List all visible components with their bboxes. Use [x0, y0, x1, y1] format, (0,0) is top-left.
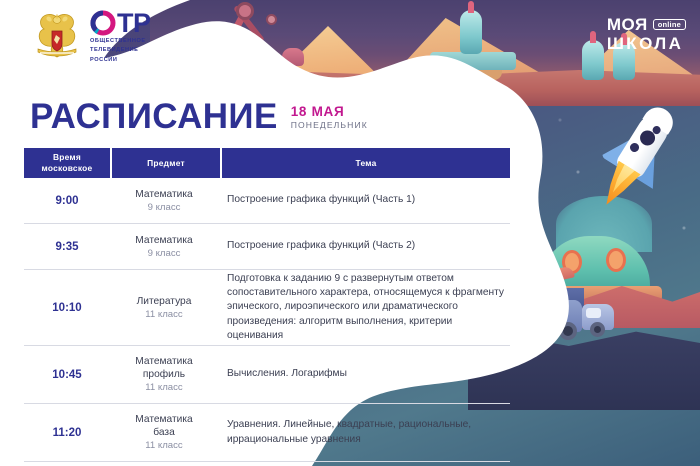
cell-topic: Вычисления. Логарифмы [218, 367, 510, 381]
otp-tagline-line3: РОССИИ [90, 57, 151, 64]
moya-shkola-line2: ШКОЛА [607, 35, 686, 52]
russian-coat-of-arms-icon [34, 11, 80, 63]
subject-grade: 9 класс [110, 247, 218, 260]
otp-o-ring-icon [90, 10, 116, 36]
cell-subject: Математикабаза11 класс [110, 413, 218, 452]
subject-name: Литература [137, 296, 192, 307]
cell-time: 11:20 [24, 427, 110, 439]
table-row: 10:45Математикапрофиль11 классВычисления… [24, 346, 510, 404]
weekday-value: ПОНЕДЕЛЬНИК [291, 119, 368, 131]
table-body: 9:00Математика9 классПостроение графика … [24, 178, 510, 462]
moya-shkola-line1: МОЯ [607, 16, 648, 33]
cell-time: 10:45 [24, 369, 110, 381]
page-title-row: РАСПИСАНИЕ 18 МАЯ ПОНЕДЕЛЬНИК [30, 99, 368, 134]
subject-name: Математика [135, 414, 192, 425]
cell-time: 10:10 [24, 302, 110, 314]
table-row: 10:10Литература11 классПодготовка к зада… [24, 270, 510, 346]
subject-grade: 11 класс [110, 381, 218, 394]
cell-subject: Математика9 класс [110, 188, 218, 214]
poster-content: ТР ОБЩЕСТВЕННОЕ ТЕЛЕВИДЕНИЕ РОССИИ МОЯ o… [0, 0, 700, 466]
online-badge: online [653, 19, 686, 31]
cell-subject: Математика9 класс [110, 234, 218, 260]
cell-time: 9:35 [24, 241, 110, 253]
subject-grade: 9 класс [110, 201, 218, 214]
subject-grade: 11 класс [110, 308, 218, 321]
subject-grade: 11 класс [110, 439, 218, 452]
table-header-row: Время московское Предмет Тема [24, 148, 510, 178]
moya-shkola-logo: МОЯ online ШКОЛА [607, 16, 686, 53]
subject-variant: профиль [110, 368, 218, 381]
otp-wordmark: ТР [90, 10, 151, 36]
subject-name: Математика [135, 235, 192, 246]
otp-tagline-line2: ТЕЛЕВИДЕНИЕ [90, 47, 151, 54]
column-header-time: Время московское [24, 148, 110, 178]
column-header-topic: Тема [222, 148, 510, 178]
cell-time: 9:00 [24, 195, 110, 207]
subject-name: Математика [135, 189, 192, 200]
subject-variant: база [110, 426, 218, 439]
otp-logo: ТР ОБЩЕСТВЕННОЕ ТЕЛЕВИДЕНИЕ РОССИИ [90, 10, 151, 64]
column-header-time-line1: Время [53, 152, 81, 163]
table-row: 9:35Математика9 классПостроение графика … [24, 224, 510, 270]
subject-name: Математика [135, 356, 192, 367]
cell-topic: Уравнения. Линейные, квадратные, рациона… [218, 418, 510, 446]
table-row: 9:00Математика9 классПостроение графика … [24, 178, 510, 224]
table-row: 11:20Математикабаза11 классУравнения. Ли… [24, 404, 510, 462]
cell-topic: Построение графика функций (Часть 1) [218, 193, 510, 207]
schedule-table: Время московское Предмет Тема 9:00Матема… [24, 148, 510, 462]
otp-tp-letters: ТР [117, 10, 151, 36]
cell-topic: Подготовка к заданию 9 с развернутым отв… [218, 272, 510, 343]
page-title: РАСПИСАНИЕ [30, 99, 278, 134]
column-header-subject: Предмет [112, 148, 220, 178]
brand-block: ТР ОБЩЕСТВЕННОЕ ТЕЛЕВИДЕНИЕ РОССИИ [34, 10, 151, 64]
cell-subject: Математикапрофиль11 класс [110, 355, 218, 394]
date-block: 18 МАЯ ПОНЕДЕЛЬНИК [291, 104, 368, 134]
cell-topic: Построение графика функций (Часть 2) [218, 239, 510, 253]
column-header-time-line2: московское [42, 163, 93, 174]
date-value: 18 МАЯ [291, 104, 368, 119]
otp-tagline-line1: ОБЩЕСТВЕННОЕ [90, 38, 151, 45]
schedule-poster: ТР ОБЩЕСТВЕННОЕ ТЕЛЕВИДЕНИЕ РОССИИ МОЯ o… [0, 0, 700, 466]
cell-subject: Литература11 класс [110, 295, 218, 321]
